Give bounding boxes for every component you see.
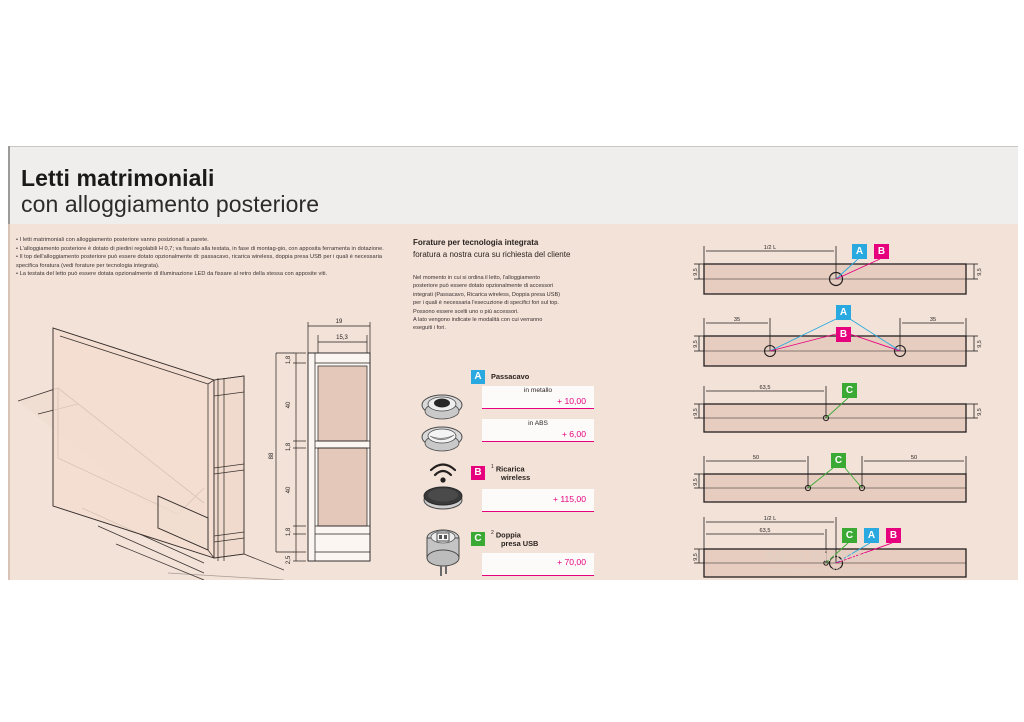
accessory-a-label: Passacavo [491, 372, 529, 381]
dim-d3-top: 63,5 [760, 385, 771, 391]
badge-c-icon: C [471, 532, 485, 546]
note-item: • La testata del letto può essere dotata… [16, 270, 396, 279]
accessory-b-label-l2: wireless [501, 473, 530, 482]
accessory-c-sup: 2 [491, 530, 494, 536]
windows-activation-subtext: Passa a Impostazioni per attivare Window… [765, 567, 874, 573]
dim-h2: 40 [286, 401, 292, 408]
hole-diagram-4: 50 50 9,5 C [690, 448, 1010, 514]
forature-line: eseguiti i fori. [413, 324, 618, 332]
notes-list: • I letti matrimoniali con alloggiamento… [16, 236, 396, 279]
bed-illustration [18, 318, 284, 580]
diagram1-badge-b: B [874, 244, 889, 259]
price-a1: + 10,00 [482, 396, 586, 406]
page-subtitle: con alloggiamento posteriore [21, 191, 319, 218]
diagram5-badge-b: B [886, 528, 901, 543]
dim-d1-right: 9,5 [977, 268, 983, 276]
hole-diagram-1: 1/2 L 9,5 9,5 A B [690, 236, 1010, 306]
variant-label-a2: in ABS [482, 420, 594, 427]
accessory-a: APassacavo [471, 368, 529, 386]
forature-title: Forature per tecnologia integrata [413, 238, 538, 247]
badge-a-icon: A [471, 370, 485, 384]
price-b: + 115,00 [482, 494, 586, 504]
diagram5-badge-c: C [842, 528, 857, 543]
accessory-c-label-l2: presa USB [501, 539, 538, 548]
accessory-b-sup: 1 [491, 464, 494, 470]
dim-h4: 40 [286, 486, 292, 493]
dim-h5: 1,8 [286, 527, 292, 536]
grommet-abs-icon [420, 424, 464, 459]
dim-d2-rightv: 9,5 [977, 340, 983, 348]
badge-b-icon: B [471, 466, 485, 480]
hole-diagram-2: 35 35 9,5 9,5 A B [690, 303, 1010, 378]
dim-total-height: 88 [269, 452, 275, 459]
panel-left-rule [8, 224, 10, 580]
dim-d1-top: 1/2 L [764, 245, 776, 251]
dim-width-outer: 19 [336, 319, 343, 325]
note-item: • L'alloggiamento posteriore è dotato di… [16, 245, 396, 254]
forature-line: Possono essere scelti uno o più accessor… [413, 308, 618, 316]
dim-d1-left: 9,5 [693, 268, 699, 276]
header-left-rule [8, 146, 10, 224]
diagram3-badge-c: C [842, 383, 857, 398]
forature-line: Nel momento in cui si ordina il letto, l… [413, 274, 618, 282]
dim-d5-second: 63,5 [760, 528, 771, 534]
accessory-b: B1 Ricarica wireless [471, 463, 530, 482]
accessory-b-label-l1: Ricarica [496, 464, 525, 473]
section-drawing: 19 15,3 1,8 40 1,8 40 1,8 2,5 88 [268, 308, 403, 580]
dim-d5-left: 9,5 [693, 553, 699, 561]
usb-socket-icon [420, 524, 466, 585]
note-item: • Il top dell'alloggiamento posteriore p… [16, 253, 396, 270]
diagram5-badge-a: A [864, 528, 879, 543]
dim-h6: 2,5 [286, 555, 292, 564]
diagram2-badge-b: B [836, 327, 851, 342]
wireless-charger-icon [418, 456, 468, 517]
dim-d4-left: 50 [753, 455, 759, 461]
dim-width-inner: 15,3 [336, 335, 348, 341]
price-a2: + 6,00 [482, 429, 586, 439]
dim-d2-right: 35 [930, 317, 936, 323]
dim-d3-left: 9,5 [693, 408, 699, 416]
dim-d4-leftv: 9,5 [693, 478, 699, 486]
dim-d5-top: 1/2 L [764, 516, 776, 522]
hole-diagram-3: 63,5 9,5 9,5 C [690, 378, 1010, 444]
dim-d3-right: 9,5 [977, 408, 983, 416]
variant-label-a1: in metallo [482, 387, 594, 394]
accessory-c-label-l1: Doppia [496, 530, 521, 539]
accessory-c: C2 Doppia presa USB [471, 529, 538, 548]
page-title: Letti matrimoniali [21, 165, 215, 192]
forature-line: posteriore può essere dotato opzionalmen… [413, 282, 618, 290]
forature-line: A lato vengono indicate le modalità con … [413, 316, 618, 324]
dim-d2-leftv: 9,5 [693, 340, 699, 348]
forature-line: per i quali è necessaria l'esecuzione di… [413, 299, 618, 307]
product-sheet-page: Letti matrimoniali con alloggiamento pos… [0, 0, 1024, 722]
forature-subtitle: foratura a nostra cura su richiesta del … [413, 250, 570, 259]
forature-body: Nel momento in cui si ordina il letto, l… [413, 274, 618, 333]
dim-h1: 1,8 [286, 355, 292, 364]
diagram1-badge-a: A [852, 244, 867, 259]
dim-d2-left: 35 [734, 317, 740, 323]
windows-activation-watermark: Attiva Windows [765, 548, 873, 565]
diagram4-badge-c: C [831, 453, 846, 468]
note-item: • I letti matrimoniali con alloggiamento… [16, 236, 396, 245]
dim-d4-right: 50 [911, 455, 917, 461]
dim-h3: 1,8 [286, 442, 292, 451]
diagram2-badge-a: A [836, 305, 851, 320]
forature-line: integrati (Passacavo, Ricarica wireless,… [413, 291, 618, 299]
grommet-metal-icon [420, 392, 464, 427]
price-c: + 70,00 [482, 557, 586, 567]
